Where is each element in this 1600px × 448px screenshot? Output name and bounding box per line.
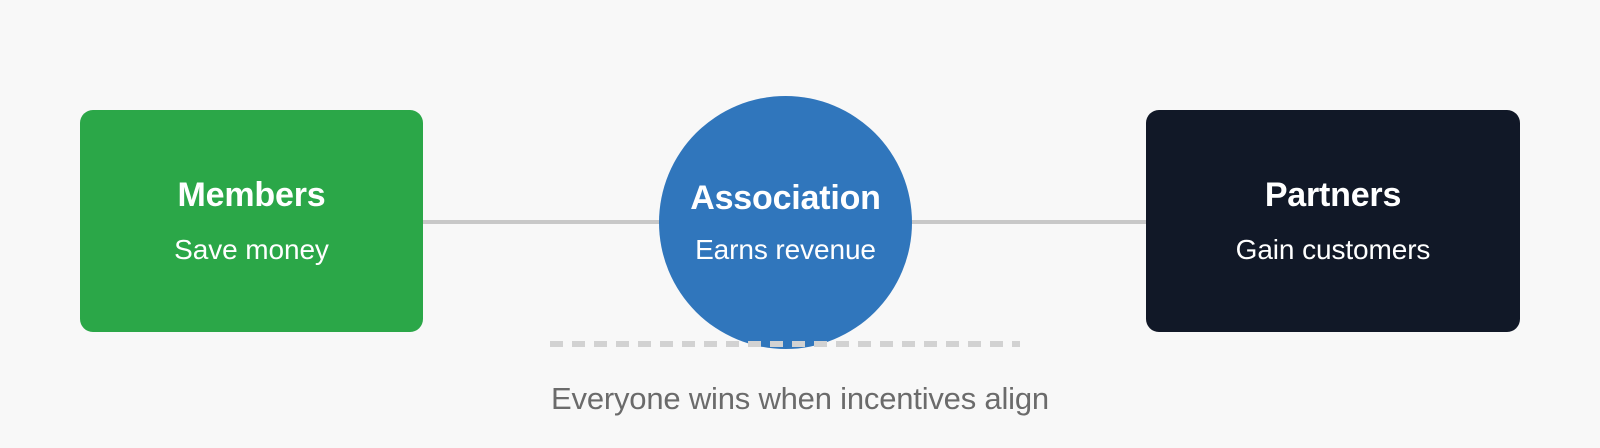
- connector-members-to-association: [421, 220, 676, 224]
- connector-association-to-partners: [894, 220, 1148, 224]
- node-partners[interactable]: Partners Gain customers: [1146, 110, 1520, 332]
- node-association-subtitle: Earns revenue: [695, 235, 876, 264]
- node-members-title: Members: [178, 178, 326, 214]
- node-association[interactable]: Association Earns revenue: [659, 96, 912, 349]
- diagram-caption: Everyone wins when incentives align: [0, 381, 1600, 417]
- node-association-title: Association: [690, 181, 881, 217]
- node-partners-subtitle: Gain customers: [1236, 235, 1431, 264]
- dashed-underline: [550, 341, 1020, 347]
- node-partners-title: Partners: [1265, 178, 1401, 214]
- node-members-subtitle: Save money: [174, 235, 329, 264]
- node-members[interactable]: Members Save money: [80, 110, 423, 332]
- incentive-alignment-diagram: Members Save money Association Earns rev…: [0, 0, 1600, 448]
